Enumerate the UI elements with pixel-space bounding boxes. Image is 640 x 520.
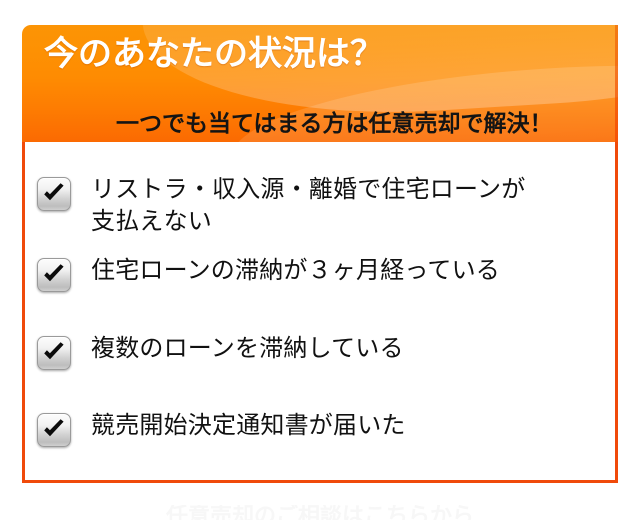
- list-item-label: リストラ・収入源・離婚で住宅ローンが 支払えない: [91, 174, 525, 238]
- list-item-label: 複数のローンを滞納している: [91, 333, 404, 365]
- list-item[interactable]: 複数のローンを滞納している: [37, 333, 597, 370]
- list-item-label: 競売開始決定通知書が届いた: [91, 410, 406, 442]
- list-item-label: 住宅ローンの滞納が３ヶ月経っている: [91, 255, 500, 287]
- promo-panel: 今のあなたの状況は？ 一つでも当てはまる方は任意売却で解決！ リストラ・収入源・…: [22, 25, 618, 483]
- checkmark-icon[interactable]: [37, 258, 71, 292]
- checkmark-icon[interactable]: [37, 336, 71, 370]
- list-item[interactable]: 競売開始決定通知書が届いた: [37, 410, 597, 447]
- list-item[interactable]: 住宅ローンの滞納が３ヶ月経っている: [37, 255, 597, 292]
- checklist-container: リストラ・収入源・離婚で住宅ローンが 支払えない 住宅ローンの滞納が３ヶ月経って…: [22, 142, 618, 483]
- page-title: 今のあなたの状況は？: [44, 36, 384, 73]
- list-item[interactable]: リストラ・収入源・離婚で住宅ローンが 支払えない: [37, 174, 597, 238]
- checkmark-icon[interactable]: [37, 177, 71, 211]
- page-subtitle: 一つでも当てはまる方は任意売却で解決！: [116, 111, 553, 136]
- cut-off-footer-text: 任意売却のご相談はこちらから: [0, 505, 640, 520]
- panel-header: 今のあなたの状況は？ 一つでも当てはまる方は任意売却で解決！: [22, 25, 618, 142]
- header-right-edge: [615, 25, 618, 142]
- checkmark-icon[interactable]: [37, 413, 71, 447]
